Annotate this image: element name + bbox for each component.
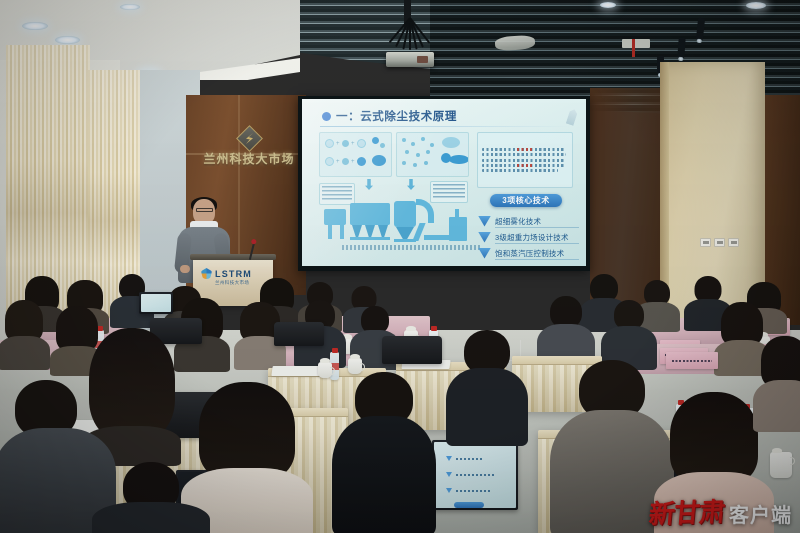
audience-person-foreground	[336, 372, 432, 533]
core-tech-label: 饱和蒸汽压控制技术	[495, 248, 564, 259]
teacup	[770, 452, 792, 478]
audience-person	[0, 300, 48, 366]
audience-person	[604, 300, 654, 368]
triangle-icon	[478, 216, 491, 227]
person-torso	[753, 380, 800, 432]
person-hair	[199, 382, 295, 480]
ceiling-fixture	[622, 39, 650, 48]
conference-room-photo: 兰州科技大市场 一：云式除尘技术原理 + + + +	[0, 0, 800, 533]
audience-person-foreground	[0, 380, 110, 533]
slide-title-text: 一：云式除尘技术原理	[336, 108, 457, 124]
person-torso	[0, 336, 50, 370]
diagram-caption	[342, 245, 482, 250]
audience-person-foreground	[756, 336, 800, 426]
person-torso	[92, 502, 210, 533]
bullet-icon	[322, 112, 331, 121]
equipment-diagram	[316, 199, 474, 245]
chair-back	[274, 322, 324, 346]
projector-icon	[386, 52, 434, 67]
triangle-icon	[478, 232, 491, 243]
downlight-icon	[746, 2, 766, 9]
laptop-screen	[141, 294, 171, 312]
downlight-icon	[22, 22, 48, 30]
core-tech-item: 饱和蒸汽压控制技术	[478, 245, 582, 261]
wall-sign-text: 兰州科技大市场	[204, 150, 295, 167]
podium-subtitle: 兰州科技大市场	[215, 280, 249, 286]
person-torso	[332, 416, 436, 533]
wall-sign: 兰州科技大市场	[206, 118, 292, 178]
molecule-panel-right	[396, 132, 469, 177]
podium-brand-text: LSTRM	[215, 269, 252, 279]
diamond-s-logo-icon	[236, 125, 263, 152]
molecule-panel-left: + + + +	[319, 132, 392, 177]
core-tech-badge: 3项核心技术	[490, 194, 562, 207]
slide-title: 一：云式除尘技术原理	[322, 108, 457, 124]
wall-sockets	[700, 238, 739, 247]
triangle-icon	[478, 248, 491, 259]
core-tech-item: 3级超重力场设计技术	[478, 229, 582, 245]
core-tech-item: 超细雾化技术	[478, 213, 582, 229]
laptop[interactable]	[432, 440, 518, 510]
slide-body-text	[477, 132, 573, 188]
core-tech-label: 3级超重力场设计技术	[495, 232, 569, 243]
presenter-hand-left	[180, 265, 190, 273]
projector-cables	[385, 18, 435, 56]
glasses-icon	[196, 208, 213, 212]
flow-arrow-icon	[365, 179, 373, 190]
lstrm-logo-icon	[201, 268, 212, 279]
title-divider	[320, 126, 570, 127]
audience-person-foreground	[450, 330, 524, 440]
core-tech-list: 超细雾化技术 3级超重力场设计技术 饱和蒸汽压控制技术	[478, 213, 582, 261]
projection-screen: 一：云式除尘技术原理 + + + +	[302, 99, 586, 266]
podium-logo: LSTRM	[201, 268, 252, 279]
item-underline	[495, 259, 579, 260]
flow-arrow-icon	[407, 179, 415, 190]
watermark: 新甘肃 客户端	[649, 501, 792, 527]
teacup	[318, 362, 332, 378]
laptop[interactable]	[139, 292, 173, 314]
chair-back	[382, 336, 442, 364]
laptop-screen	[434, 442, 516, 508]
molecule-diagram: + + + +	[319, 132, 469, 177]
watermark-red-text: 新甘肃	[648, 500, 726, 529]
socket-icon	[728, 238, 739, 247]
item-underline	[495, 243, 579, 244]
podium-top	[190, 254, 276, 260]
pen-icon	[566, 108, 579, 126]
core-tech-label: 超细雾化技术	[495, 216, 541, 227]
socket-icon	[700, 238, 711, 247]
placard-text	[672, 360, 713, 362]
name-placard	[666, 352, 718, 369]
watermark-white-text: 客户端	[729, 505, 792, 527]
person-torso	[446, 368, 528, 446]
downlight-icon	[120, 4, 140, 10]
person-hair	[670, 392, 758, 484]
downlight-icon	[600, 2, 616, 8]
item-underline	[495, 227, 579, 228]
socket-icon	[714, 238, 725, 247]
track-light-icon	[677, 38, 685, 58]
audience-person-foreground	[96, 462, 206, 533]
downlight-icon	[55, 36, 80, 44]
